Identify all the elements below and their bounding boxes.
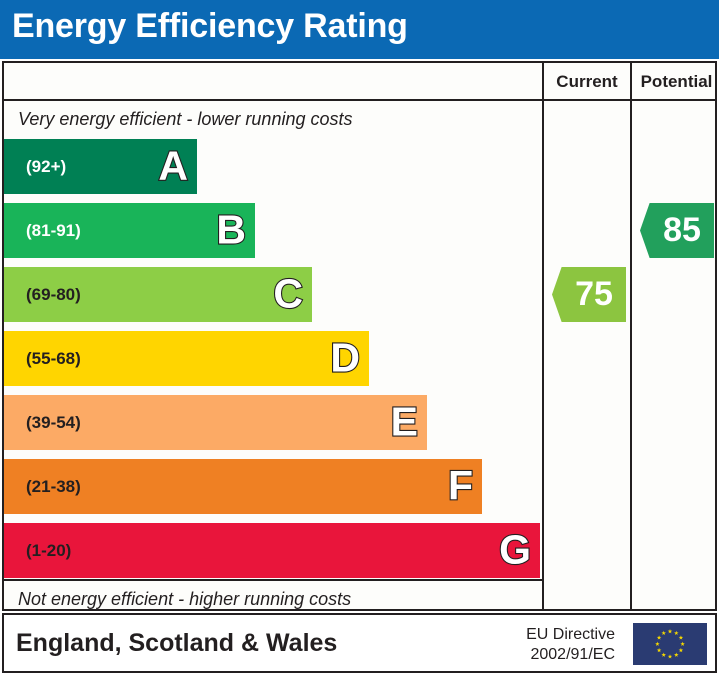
footer-directive-label: EU Directive 2002/91/EC [526,625,615,665]
eu-flag-icon [633,623,707,665]
band-letter-g: G [499,529,531,570]
caption-very-efficient: Very energy efficient - lower running co… [18,109,353,130]
band-f: (21-38)F [4,459,482,514]
footer-region-label: England, Scotland & Wales [16,629,337,658]
band-letter-a: A [158,145,188,186]
chart-frame: Current Potential Very energy efficient … [2,61,717,611]
band-letter-c: C [273,273,303,314]
footer-bar: England, Scotland & Wales EU Directive 2… [2,613,717,673]
band-range-d: (55-68) [26,349,81,369]
band-range-e: (39-54) [26,413,81,433]
page-title: Energy Efficiency Rating [12,7,408,46]
band-letter-e: E [391,401,418,442]
band-b: (81-91)B [4,203,255,258]
band-letter-d: D [330,337,360,378]
column-header-potential: Potential [632,72,719,92]
column-header-row: Current Potential [4,63,715,101]
band-range-f: (21-38) [26,477,81,497]
band-e: (39-54)E [4,395,427,450]
directive-line-2: 2002/91/EC [526,645,615,665]
band-range-g: (1-20) [26,541,71,561]
caption-bottom-rule [4,579,542,581]
band-d: (55-68)D [4,331,369,386]
rating-marker-current: 75 [552,267,626,322]
band-letter-b: B [216,209,246,250]
band-range-b: (81-91) [26,221,81,241]
column-divider-potential [630,63,632,609]
caption-not-efficient: Not energy efficient - higher running co… [18,589,351,610]
band-g: (1-20)G [4,523,540,578]
rating-marker-potential: 85 [640,203,714,258]
column-divider-current [542,63,544,609]
column-header-current: Current [544,72,630,92]
energy-efficiency-rating-chart: Energy Efficiency Rating Current Potenti… [0,0,719,675]
band-c: (69-80)C [4,267,312,322]
band-a: (92+)A [4,139,197,194]
directive-line-1: EU Directive [526,625,615,645]
band-range-c: (69-80) [26,285,81,305]
title-bar: Energy Efficiency Rating [0,0,719,59]
band-range-a: (92+) [26,157,66,177]
band-letter-f: F [448,465,473,506]
